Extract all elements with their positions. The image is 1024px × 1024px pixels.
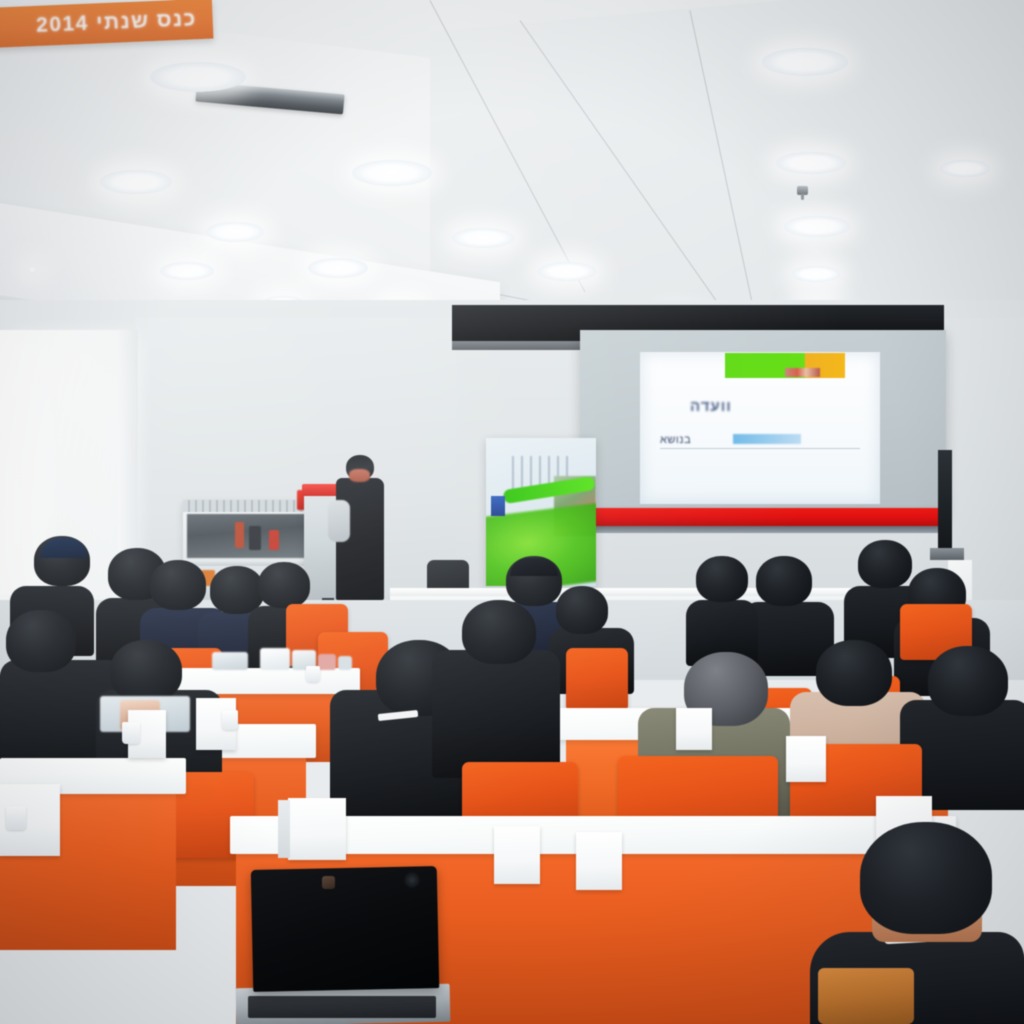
stage-red-stripe [594, 508, 938, 526]
downlight [206, 222, 264, 242]
foreground-person-head [860, 822, 992, 934]
cabinet-item [269, 530, 279, 550]
conference-room-photo: כנס שנתי 2014 וועדה בנושא [0, 0, 1024, 1024]
audience-head [858, 540, 912, 588]
downlight [776, 152, 846, 174]
slide-rule [660, 448, 860, 449]
audience-head [756, 556, 812, 606]
wall-speaker-bracket [930, 548, 964, 560]
audience-body [432, 650, 560, 778]
stage-stripe-shadow [594, 526, 938, 533]
audience-head [462, 600, 536, 664]
cup [122, 722, 140, 744]
audience-head [696, 556, 748, 602]
cup [222, 710, 238, 730]
name-card [786, 736, 826, 782]
audience-head [258, 562, 310, 608]
laptop-camera-icon [404, 872, 420, 888]
downlight [792, 266, 840, 282]
table-clutter [212, 652, 248, 670]
downlight [150, 62, 246, 92]
presenter-face [349, 469, 370, 482]
laptop-logo-icon [322, 876, 335, 889]
audience-head [110, 640, 182, 702]
downlight [940, 160, 990, 177]
name-card [676, 708, 712, 750]
slide-title-text: וועדה [690, 398, 770, 414]
audience-head [928, 646, 1008, 716]
sprinkler-head-icon [797, 186, 808, 195]
downlight [762, 48, 848, 76]
wooden-chair [818, 968, 914, 1024]
downlight [28, 266, 37, 273]
banner-text: כנס שנתי 2014 [36, 7, 213, 38]
downlight [538, 262, 596, 281]
audience-head [816, 640, 892, 706]
presenter-arm [328, 500, 350, 542]
cabinet-item [235, 522, 244, 548]
name-card [288, 798, 346, 860]
cabinet-item [249, 526, 261, 550]
downlight [784, 216, 850, 237]
poster-blue-tab [491, 496, 505, 516]
table-clutter [318, 654, 336, 670]
audience-head [556, 586, 608, 634]
downlight [100, 170, 172, 194]
name-card-side [278, 800, 290, 858]
name-card [576, 832, 622, 890]
downlight [352, 160, 432, 186]
wall-speaker [938, 450, 952, 548]
laptop-keyboard[interactable] [248, 996, 436, 1018]
table-clutter [260, 648, 290, 670]
downlight [160, 262, 214, 280]
table-clutter [338, 656, 352, 670]
audience-head [150, 560, 206, 610]
audience-cap-icon [510, 558, 558, 576]
slide-highlight-bar [733, 434, 801, 444]
slide-subtitle-text: בנושא [660, 434, 730, 445]
downlight [452, 228, 514, 248]
chair [566, 648, 628, 710]
cup [6, 806, 26, 830]
cup [306, 666, 320, 682]
name-card [494, 826, 540, 884]
slide-thumbnail-image [785, 368, 820, 377]
downlight [308, 258, 368, 278]
audience-head [6, 610, 76, 672]
